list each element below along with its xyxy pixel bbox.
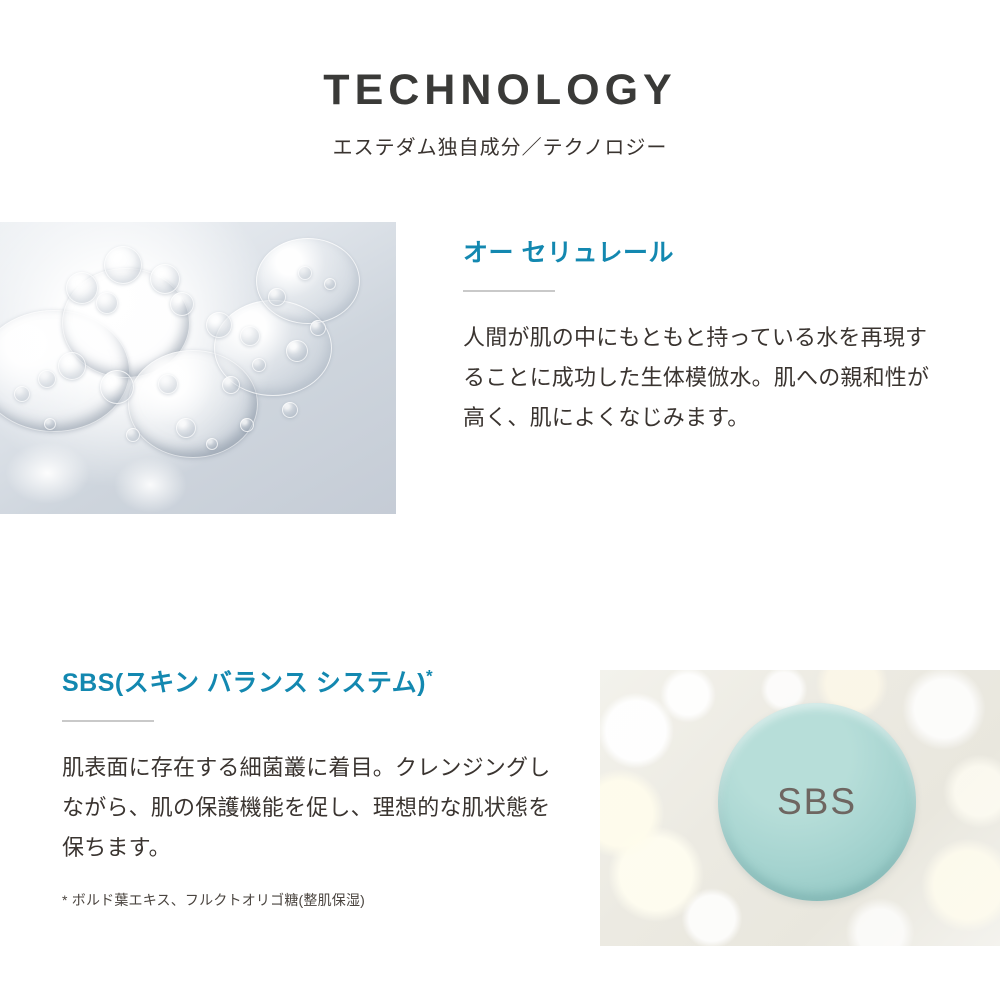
sbs-disc-label: SBS (777, 781, 857, 823)
section-heading-ocellulaire: オー セリュレール (463, 238, 933, 268)
bubble-shape (44, 418, 56, 430)
bubble-shape (324, 278, 336, 290)
bubble-shape (96, 292, 118, 314)
bubble-shape (66, 272, 98, 304)
bubble-shape (252, 358, 266, 372)
bubble-shape (14, 386, 30, 402)
bubble-shape (286, 340, 308, 362)
bubble-shape (222, 376, 240, 394)
bubble-shape (298, 266, 312, 280)
section-heading-sbs-label: SBS(スキン バランス システム) (62, 669, 426, 697)
section-heading-sbs: SBS(スキン バランス システム)* (62, 668, 572, 698)
bubble-shape (310, 320, 326, 336)
footnote-asterisk-marker: * (426, 667, 433, 686)
bubble-shape (158, 374, 178, 394)
water-bubbles-photo (0, 222, 396, 514)
page-header: TECHNOLOGY エステダム独自成分／テクノロジー (0, 0, 1000, 160)
bubble-shape (104, 246, 142, 284)
bubble-shape (240, 418, 254, 432)
bubble-shape (38, 370, 56, 388)
bubble-shape (58, 352, 86, 380)
bubble-shape (170, 292, 194, 316)
sbs-disc-photo: SBS (600, 670, 1000, 946)
sbs-disc-shape: SBS (718, 703, 916, 901)
bubble-shape (268, 288, 286, 306)
bubble-shape (176, 418, 196, 438)
page-subtitle: エステダム独自成分／テクノロジー (0, 113, 1000, 160)
bubble-shape (150, 264, 180, 294)
bubble-shape (206, 438, 218, 450)
page-title: TECHNOLOGY (0, 0, 1000, 113)
bubble-shape (206, 312, 232, 338)
section-body-sbs: 肌表面に存在する細菌叢に着目。クレンジングしながら、肌の保護機能を促し、理想的な… (62, 722, 572, 868)
section-sbs-text: SBS(スキン バランス システム)* 肌表面に存在する細菌叢に着目。クレンジン… (62, 668, 572, 911)
section-body-ocellulaire: 人間が肌の中にもともと持っている水を再現することに成功した生体模倣水。肌への親和… (463, 292, 933, 438)
section-footnote-sbs: * ボルド葉エキス、フルクトオリゴ糖(整肌保湿) (62, 868, 572, 911)
bubble-shape (240, 326, 260, 346)
bubble-shape (126, 428, 140, 442)
bubble-shape (256, 238, 360, 324)
section-ocellulaire-text: オー セリュレール 人間が肌の中にもともと持っている水を再現することに成功した生… (463, 238, 933, 438)
bubble-shape (282, 402, 298, 418)
bubble-shape (100, 370, 134, 404)
